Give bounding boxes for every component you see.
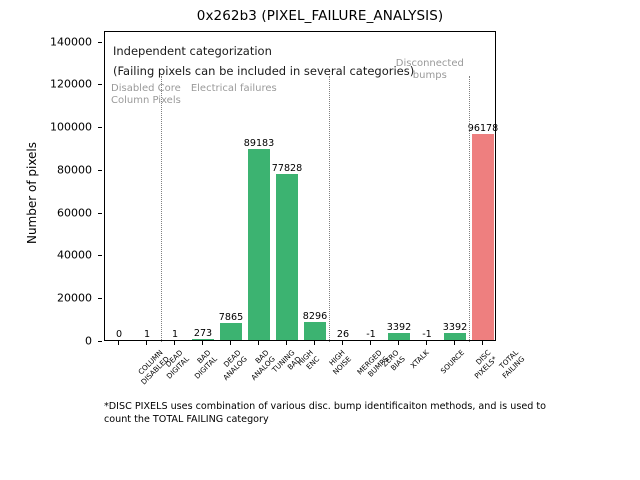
bar bbox=[220, 323, 243, 340]
annotation-group-disabled-core: Disabled CoreColumn Pixels bbox=[111, 83, 181, 107]
annotation-independent-line-1: Independent categorization bbox=[113, 44, 272, 58]
bar-value-label: 8296 bbox=[303, 311, 327, 322]
plot-area: 01127378658918377828829626-13392-1339296… bbox=[104, 31, 496, 341]
y-tick-mark bbox=[98, 127, 102, 128]
y-tick-label: 60000 bbox=[0, 206, 92, 219]
x-tick-mark bbox=[398, 341, 399, 345]
chart-figure: 0x262b3 (PIXEL_FAILURE_ANALYSIS) Number … bbox=[0, 0, 640, 480]
x-tick-label: XTALK bbox=[409, 348, 431, 370]
x-tick-label: HIGHNOISE bbox=[325, 348, 353, 376]
footnote: *DISC PIXELS uses combination of various… bbox=[104, 400, 574, 426]
annotation-independent-line-2: (Failing pixels can be included in sever… bbox=[113, 64, 414, 78]
bar bbox=[304, 322, 327, 340]
y-tick-mark bbox=[98, 84, 102, 85]
x-tick-label: ZEROBIAS bbox=[380, 348, 407, 375]
y-tick-mark bbox=[98, 213, 102, 214]
bar-value-label: 89183 bbox=[244, 138, 275, 149]
y-tick-mark bbox=[98, 170, 102, 171]
x-tick-label: DISCPIXELS* bbox=[466, 348, 499, 381]
bar-value-label: 7865 bbox=[219, 312, 243, 323]
x-tick-mark bbox=[314, 341, 315, 345]
annotation-group-disabled-core-line-2: Column Pixels bbox=[111, 95, 181, 107]
bar bbox=[192, 339, 215, 340]
annotation-group-disconnected-bumps-line-2: bumps bbox=[396, 70, 464, 82]
x-tick-mark bbox=[286, 341, 287, 345]
y-tick-mark bbox=[98, 42, 102, 43]
x-tick-mark bbox=[174, 341, 175, 345]
chart-title: 0x262b3 (PIXEL_FAILURE_ANALYSIS) bbox=[0, 8, 640, 24]
x-tick-label: DEADANALOG bbox=[215, 348, 249, 382]
bar-value-label: 96178 bbox=[468, 123, 499, 134]
x-tick-mark bbox=[342, 341, 343, 345]
bar-value-label: 26 bbox=[337, 329, 349, 340]
x-tick-mark bbox=[146, 341, 147, 345]
x-tick-label: HIGHENC bbox=[295, 348, 321, 374]
bar-value-label: 0 bbox=[116, 329, 122, 340]
bar bbox=[388, 333, 411, 340]
annotation-group-disconnected-bumps: Disconnectedbumps bbox=[396, 58, 464, 82]
x-tick-label: SOURCE bbox=[439, 348, 466, 375]
y-tick-mark bbox=[98, 298, 102, 299]
bar-value-label: 1 bbox=[144, 329, 150, 340]
x-tick-mark bbox=[118, 341, 119, 345]
y-tick-label: 120000 bbox=[0, 78, 92, 91]
y-tick-label: 20000 bbox=[0, 292, 92, 305]
x-tick-mark bbox=[370, 341, 371, 345]
bar-value-label: 273 bbox=[194, 328, 212, 339]
y-tick-label: 80000 bbox=[0, 163, 92, 176]
x-tick-mark bbox=[482, 341, 483, 345]
x-tick-label: BADDIGITAL bbox=[186, 348, 219, 381]
annotation-group-electrical-failures: Electrical failures bbox=[191, 83, 277, 95]
y-tick-label: 40000 bbox=[0, 249, 92, 262]
x-tick-mark bbox=[202, 341, 203, 345]
bar bbox=[276, 174, 299, 340]
x-tick-label: TOTALFAILING bbox=[494, 348, 526, 380]
y-tick-label: 140000 bbox=[0, 35, 92, 48]
x-tick-label-line-1: XTALK bbox=[409, 348, 431, 370]
y-tick-mark bbox=[98, 341, 102, 342]
bar bbox=[472, 134, 495, 340]
x-tick-label-line-1: SOURCE bbox=[439, 348, 466, 375]
section-separator bbox=[329, 76, 330, 342]
x-tick-mark bbox=[230, 341, 231, 345]
x-tick-mark bbox=[426, 341, 427, 345]
bar-value-label: -1 bbox=[422, 329, 432, 340]
bar-value-label: 77828 bbox=[272, 163, 303, 174]
bar-value-label: 1 bbox=[172, 329, 178, 340]
bar-value-label: 3392 bbox=[443, 322, 467, 333]
bar bbox=[248, 149, 271, 340]
annotation-group-disabled-core-line-1: Disabled Core bbox=[111, 83, 181, 95]
bar bbox=[444, 333, 467, 340]
y-tick-mark bbox=[98, 255, 102, 256]
bar-value-label: -1 bbox=[366, 329, 376, 340]
y-tick-label: 100000 bbox=[0, 121, 92, 134]
bar-value-label: 3392 bbox=[387, 322, 411, 333]
annotation-group-disconnected-bumps-line-1: Disconnected bbox=[396, 58, 464, 70]
x-tick-mark bbox=[258, 341, 259, 345]
footnote-line-1: *DISC PIXELS uses combination of various… bbox=[104, 401, 507, 412]
x-tick-mark bbox=[454, 341, 455, 345]
y-tick-label: 0 bbox=[0, 335, 92, 348]
section-separator bbox=[161, 76, 162, 342]
section-separator bbox=[469, 76, 470, 342]
